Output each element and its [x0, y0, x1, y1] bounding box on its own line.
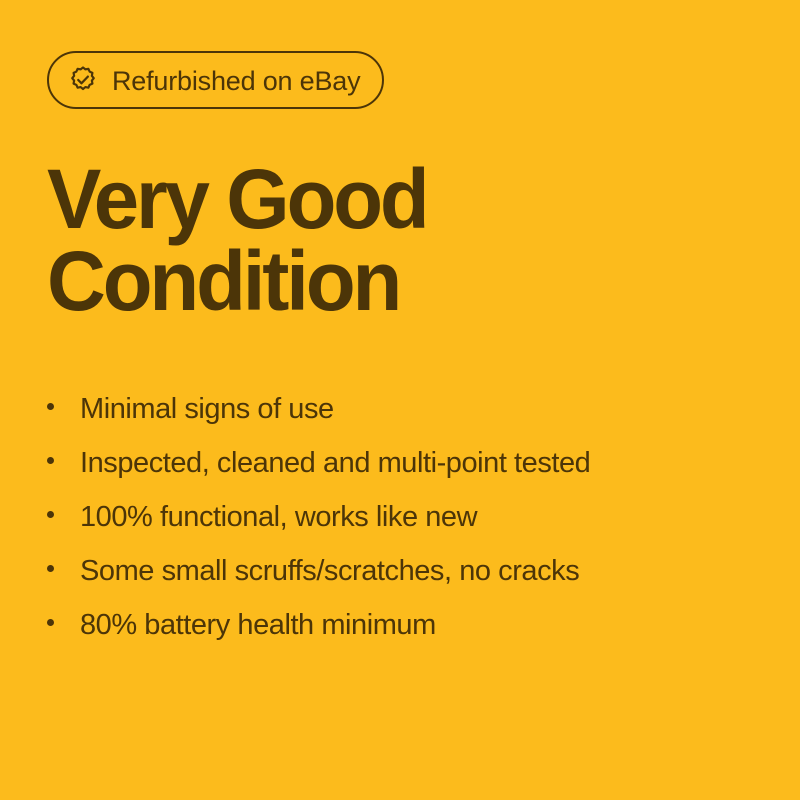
list-item: Inspected, cleaned and multi-point teste… [47, 436, 755, 490]
refurbished-condition-card: Refurbished on eBay Very Good Condition … [0, 0, 800, 800]
refurbished-badge-label: Refurbished on eBay [112, 68, 360, 95]
list-item: 80% battery health minimum [47, 598, 755, 652]
list-item-label: 80% battery health minimum [80, 598, 436, 652]
list-item-label: 100% functional, works like new [80, 490, 477, 544]
condition-feature-list: Minimal signs of use Inspected, cleaned … [47, 323, 755, 652]
list-item: 100% functional, works like new [47, 490, 755, 544]
list-item-label: Some small scruffs/scratches, no cracks [80, 544, 579, 598]
bullet-icon [47, 457, 54, 464]
page-title: Very Good Condition [47, 109, 734, 323]
list-item-label: Inspected, cleaned and multi-point teste… [80, 436, 590, 490]
refurbished-badge: Refurbished on eBay [47, 51, 384, 109]
bullet-icon [47, 511, 54, 518]
verified-seal-icon [68, 65, 98, 95]
page-title-line-2: Condition [47, 240, 734, 322]
list-item-label: Minimal signs of use [80, 382, 334, 436]
page-title-line-1: Very Good [47, 158, 734, 240]
bullet-icon [47, 403, 54, 410]
list-item: Some small scruffs/scratches, no cracks [47, 544, 755, 598]
bullet-icon [47, 565, 54, 572]
list-item: Minimal signs of use [47, 382, 755, 436]
bullet-icon [47, 619, 54, 626]
